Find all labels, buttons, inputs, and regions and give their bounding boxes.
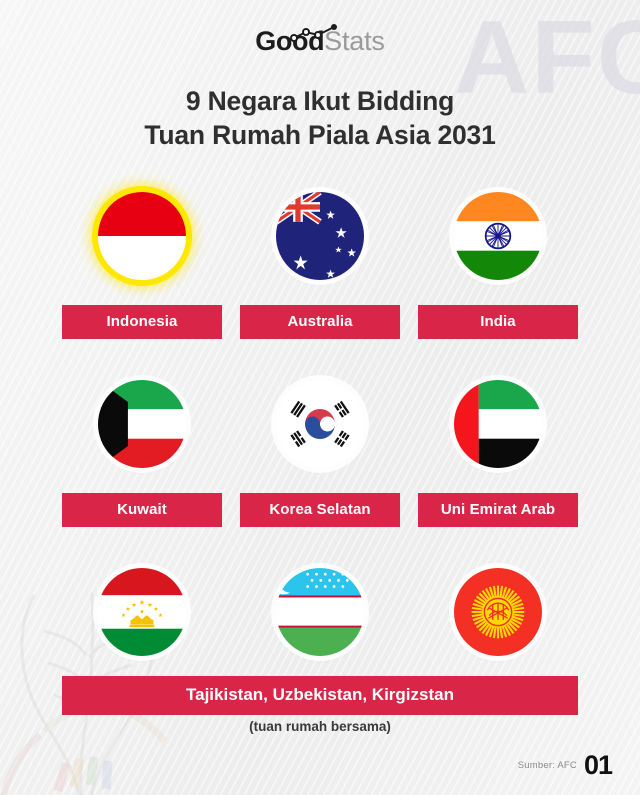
- flag-cell-korea: [240, 380, 400, 468]
- line-chart-spark-icon: [289, 18, 341, 48]
- label-cell-uae: Uni Emirat Arab: [418, 493, 578, 527]
- label-cell-india: India: [418, 305, 578, 339]
- label-cell-kuwait: Kuwait: [62, 493, 222, 527]
- joint-host-caption: (tuan rumah bersama): [0, 719, 640, 734]
- flag-tajikistan-icon: [98, 568, 186, 656]
- infographic-page: AFC: [0, 0, 640, 795]
- flag-india-icon: [454, 192, 542, 280]
- flag-cell-india: [418, 192, 578, 280]
- page-title: 9 Negara Ikut Bidding Tuan Rumah Piala A…: [0, 84, 640, 152]
- country-label-india: India: [418, 305, 578, 339]
- flag-row-3: [62, 568, 578, 656]
- flag-south-korea-icon: [276, 380, 364, 468]
- source-text: Sumber: AFC: [518, 760, 577, 771]
- label-row-2: Kuwait Korea Selatan Uni Emirat Arab: [62, 493, 578, 527]
- title-line-2: Tuan Rumah Piala Asia 2031: [0, 118, 640, 152]
- country-label-korea-selatan: Korea Selatan: [240, 493, 400, 527]
- country-label-indonesia: Indonesia: [62, 305, 222, 339]
- flag-australia-icon: [276, 192, 364, 280]
- label-cell-indonesia: Indonesia: [62, 305, 222, 339]
- flag-kyrgyzstan-icon: [454, 568, 542, 656]
- title-line-1: 9 Negara Ikut Bidding: [0, 84, 640, 118]
- country-label-uni-emirat-arab: Uni Emirat Arab: [418, 493, 578, 527]
- flag-uzbekistan-icon: [276, 568, 364, 656]
- flag-row-2: [62, 380, 578, 468]
- flag-cell-australia: [240, 192, 400, 280]
- flag-cell-tajikistan: [62, 568, 222, 656]
- flag-cell-uzbekistan: [240, 568, 400, 656]
- flag-cell-uae: [418, 380, 578, 468]
- label-row-1: Indonesia Australia India: [62, 305, 578, 339]
- flag-row-1: [62, 192, 578, 280]
- flag-cell-kuwait: [62, 380, 222, 468]
- country-label-australia: Australia: [240, 305, 400, 339]
- footer: Sumber: AFC 01: [518, 752, 612, 779]
- label-cell-australia: Australia: [240, 305, 400, 339]
- page-number: 01: [584, 752, 612, 779]
- flag-uae-icon: [454, 380, 542, 468]
- flag-kuwait-icon: [98, 380, 186, 468]
- flag-indonesia-icon: [98, 192, 186, 280]
- label-cell-korea: Korea Selatan: [240, 493, 400, 527]
- brand-logo: GoodStats: [0, 26, 640, 60]
- flag-cell-kyrgyzstan: [418, 568, 578, 656]
- flag-cell-indonesia: [62, 192, 222, 280]
- country-label-kuwait: Kuwait: [62, 493, 222, 527]
- joint-host-label: Tajikistan, Uzbekistan, Kirgizstan: [62, 676, 578, 715]
